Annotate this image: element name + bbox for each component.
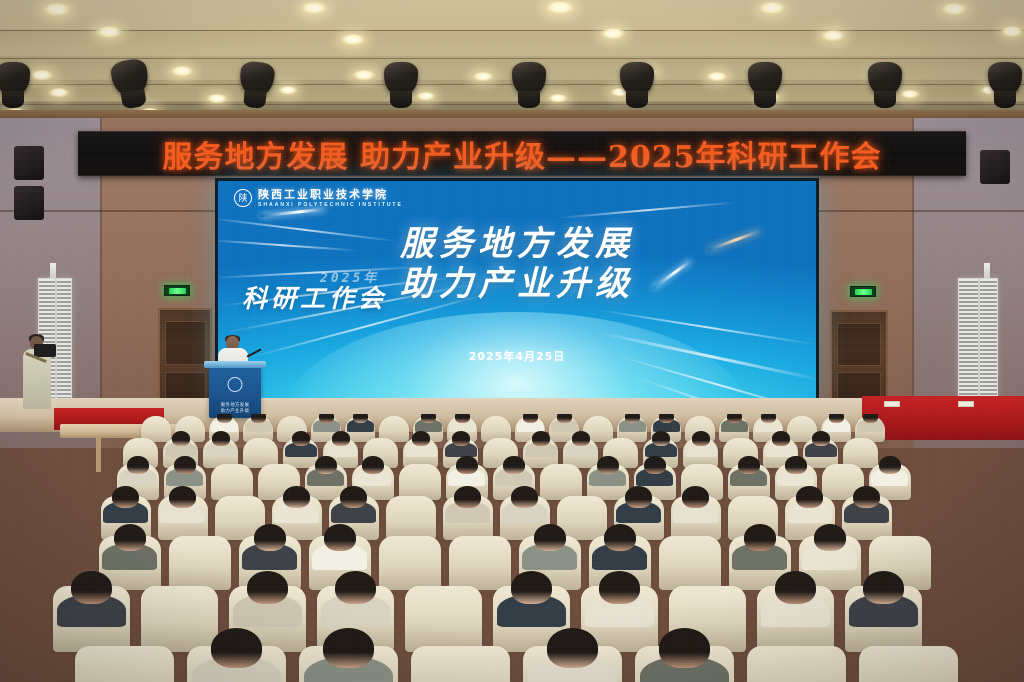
ceiling-downlight: [600, 28, 626, 40]
attendee-head: [879, 456, 901, 474]
institute-logo: 陕 陕西工业职业技术学院 SHAANXI POLYTECHNIC INSTITU…: [234, 189, 403, 208]
louver-stem-right: [984, 263, 990, 279]
theater-seat: [411, 646, 510, 682]
slide-title-line1: 服务地方发展: [218, 227, 816, 261]
attendee-head: [315, 456, 337, 474]
attendee-head: [785, 456, 807, 474]
slide-subtitle: 2025年 科研工作会: [242, 267, 542, 315]
attendee-head: [812, 431, 830, 446]
theater-seat: [211, 464, 252, 500]
attendee-head: [174, 456, 196, 474]
ceiling-downlight: [472, 72, 494, 82]
theater-seat: [859, 646, 958, 682]
wall-speaker-left: [14, 146, 44, 180]
attendee-head: [692, 431, 710, 446]
attendee-head: [412, 431, 430, 446]
attendee-head: [659, 414, 675, 423]
university-seal-icon: 陕: [234, 189, 252, 207]
theater-seat: [169, 536, 231, 590]
attendee-head: [625, 414, 641, 423]
attendee-head: [335, 571, 376, 604]
ceiling-downlight: [95, 26, 123, 39]
stage-spotlight: [0, 62, 30, 96]
theater-seat: [386, 496, 436, 540]
theater-seat: [379, 536, 441, 590]
attendee-head: [572, 431, 590, 446]
podium-seal-icon: [228, 377, 243, 392]
theater-seat: [449, 536, 511, 590]
attendee-head: [421, 414, 437, 423]
attendee-head: [727, 414, 743, 423]
attendee-head: [511, 486, 537, 508]
ceiling-downlight: [170, 66, 194, 77]
attendee-head: [169, 486, 195, 508]
theater-seat: [75, 646, 174, 682]
ceiling-downlight: [1000, 26, 1024, 38]
attendee-head: [324, 524, 356, 551]
attendee-head: [332, 431, 350, 446]
theater-seat: [141, 586, 218, 652]
attendee-head: [247, 571, 288, 604]
attendee-head: [319, 414, 335, 423]
theater-seat: [659, 536, 721, 590]
stage-spotlight: [748, 62, 782, 96]
exit-sign-icon-right: [850, 286, 876, 297]
attendee-head: [511, 571, 552, 604]
attendee-head: [112, 486, 138, 508]
ceiling-downlight: [48, 88, 70, 98]
slide-date: 2025年4月25日: [218, 348, 816, 364]
institute-name-en: SHAANXI POLYTECHNIC INSTITUTE: [258, 202, 403, 208]
attendee-head: [292, 431, 310, 446]
attendee-head: [775, 571, 816, 604]
attendee-head: [738, 456, 760, 474]
attendee-head: [454, 486, 480, 508]
ceiling-downlight: [900, 90, 920, 99]
theater-seat: [405, 586, 482, 652]
led-screen: 陕 陕西工业职业技术学院 SHAANXI POLYTECHNIC INSTITU…: [215, 178, 819, 402]
attendee-head: [251, 414, 267, 423]
attendee-head: [744, 524, 776, 551]
ceiling-downlight: [352, 70, 376, 81]
attendee-head: [523, 414, 539, 423]
attendee-head: [283, 486, 309, 508]
attendee-head: [761, 414, 777, 423]
camera-operator: [22, 336, 52, 422]
stage-spotlight: [868, 62, 902, 96]
wall-speaker-right: [980, 150, 1010, 184]
attendee-head: [597, 456, 619, 474]
theater-seat: [540, 464, 581, 500]
led-banner: 服务地方发展 助力产业升级——2025年科研工作会: [78, 131, 966, 176]
attendee-head: [455, 414, 471, 423]
podium: 服务地方发展 助力产业升级: [209, 366, 261, 418]
screen-streak: [260, 208, 326, 218]
attendee-head: [652, 431, 670, 446]
attendee-head: [557, 414, 573, 423]
stage-spotlight: [620, 62, 654, 96]
attendee-head: [172, 431, 190, 446]
theater-seat: [399, 464, 440, 500]
ceiling-downlight: [758, 2, 786, 15]
stage-spotlight: [238, 60, 275, 97]
attendee-head: [547, 628, 599, 668]
attendee-head: [254, 524, 286, 551]
ceiling-downlight: [340, 34, 366, 46]
attendee-head: [682, 486, 708, 508]
attendee-head: [127, 456, 149, 474]
attendee-head: [532, 431, 550, 446]
ceiling-downlight: [300, 2, 328, 15]
attendee-head: [625, 486, 651, 508]
stage-spotlight: [512, 62, 546, 96]
stage-spotlight: [384, 62, 418, 96]
audience-seating: [0, 414, 1024, 682]
attendee-head: [323, 628, 375, 668]
ceiling-downlight: [42, 3, 72, 17]
ceiling-downlight: [706, 72, 728, 82]
ceiling-downlight: [206, 94, 228, 104]
attendee-head: [340, 486, 366, 508]
exit-sign-icon-left: [164, 285, 190, 296]
attendee-head: [217, 414, 233, 423]
attendee-head: [796, 486, 822, 508]
attendee-head: [456, 456, 478, 474]
attendee-head: [863, 571, 904, 604]
attendee-head: [829, 414, 845, 423]
ceiling-downlight: [278, 86, 298, 95]
attendee-head: [452, 431, 470, 446]
attendee-head: [644, 456, 666, 474]
attendee-head: [503, 456, 525, 474]
ceiling-downlight: [545, 1, 575, 15]
attendee-head: [362, 456, 384, 474]
attendee-head: [604, 524, 636, 551]
ceiling-downlight: [820, 30, 846, 42]
attendee-head: [71, 571, 112, 604]
ceiling-downlight: [940, 3, 968, 16]
auditorium-photo: 服务地方发展 助力产业升级——2025年科研工作会 陕: [0, 0, 1024, 682]
attendee-head: [814, 524, 846, 551]
name-placard: [958, 401, 974, 407]
attendee-head: [772, 431, 790, 446]
institute-name-cn: 陕西工业职业技术学院: [258, 189, 403, 201]
attendee-head: [534, 524, 566, 551]
wall-speaker-left-2: [14, 186, 44, 220]
video-camera-icon: [34, 344, 56, 357]
stage-spotlight: [988, 62, 1022, 96]
ceiling-downlight: [416, 92, 436, 101]
led-banner-text: 服务地方发展 助力产业升级——2025年科研工作会: [163, 132, 882, 176]
louver-stem-left: [50, 263, 56, 279]
theater-seat: [747, 646, 846, 682]
acoustic-louver-panel-right: [958, 278, 998, 408]
attendee-head: [114, 524, 146, 551]
stage-spotlight: [109, 57, 151, 99]
podium-top: [204, 361, 266, 368]
attendee-head: [659, 628, 711, 668]
attendee-head: [853, 486, 879, 508]
ceiling-downlight: [548, 94, 568, 103]
name-placard: [884, 401, 900, 407]
attendee-head: [599, 571, 640, 604]
attendee-head: [863, 414, 879, 423]
attendee-head: [212, 431, 230, 446]
slide-subtitle-main: 科研工作会: [242, 279, 542, 315]
ceiling: [0, 0, 1024, 120]
ceiling-downlight: [30, 70, 54, 81]
attendee-head: [211, 628, 263, 668]
attendee-head: [353, 414, 369, 423]
